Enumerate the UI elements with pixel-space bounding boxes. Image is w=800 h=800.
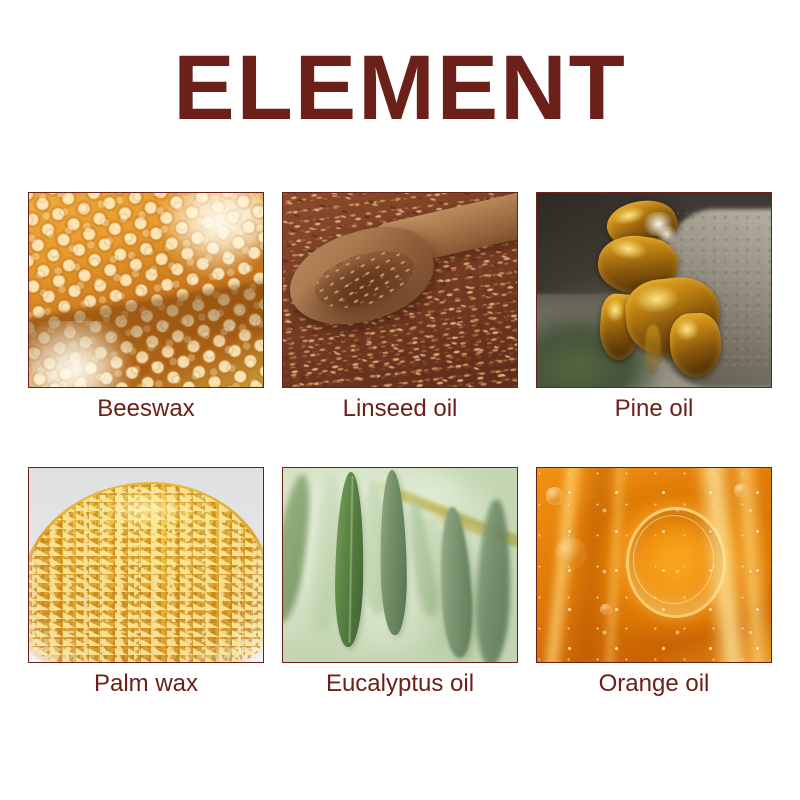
ingredient-label-pine-oil: Pine oil [536,395,772,423]
ingredient-label-orange-oil: Orange oil [536,670,772,698]
ingredient-label-beeswax: Beeswax [28,395,264,423]
palm-wax-highlight [99,487,193,530]
orange-oil-bubble-top-left [546,487,562,504]
ingredient-image-orange-oil [536,467,772,663]
ingredient-label-linseed-oil: Linseed oil [282,395,518,423]
ingredient-card-orange-oil[interactable]: Orange oil [536,467,772,663]
ingredient-card-linseed-oil[interactable]: Linseed oil [282,192,518,388]
ingredient-card-beeswax[interactable]: Beeswax [28,192,264,388]
ingredient-label-eucalyptus-oil: Eucalyptus oil [282,670,518,698]
ingredient-card-eucalyptus-oil[interactable]: Eucalyptus oil [282,467,518,663]
ingredient-grid: Beeswax Linseed oil [28,192,772,663]
spoon-bowl-interior [307,240,420,318]
beeswax-honeycomb-art [29,193,263,387]
orange-oil-droplet-ring-inner [633,515,715,604]
seeds-in-spoon [307,240,420,318]
ingredient-card-pine-oil[interactable]: Pine oil [536,192,772,388]
ingredient-image-linseed-oil [282,192,518,388]
resin-thread [645,325,661,375]
orange-oil-bubble-top-right [734,484,748,498]
poster-root: ELEMENT Beeswax [0,0,800,800]
ingredient-image-beeswax [28,192,264,388]
honeycomb-highlight-top-right [153,193,263,276]
eucalyptus-leaves-art [283,468,517,662]
ingredient-card-palm-wax[interactable]: Palm wax [28,467,264,663]
pine-resin-art [537,193,771,387]
palm-wax-flakes-art [29,468,263,662]
page-title: ELEMENT [0,42,800,134]
ingredient-image-eucalyptus-oil [282,467,518,663]
orange-oil-art [537,468,771,662]
ingredient-label-palm-wax: Palm wax [28,670,264,698]
ingredient-image-pine-oil [536,192,772,388]
linseed-seeds-art [283,193,517,387]
orange-oil-bubble-large-left [556,538,586,569]
ingredient-image-palm-wax [28,467,264,663]
resin-highlight-secondary [654,226,680,243]
honeycomb-highlight-bottom-left [29,321,146,387]
